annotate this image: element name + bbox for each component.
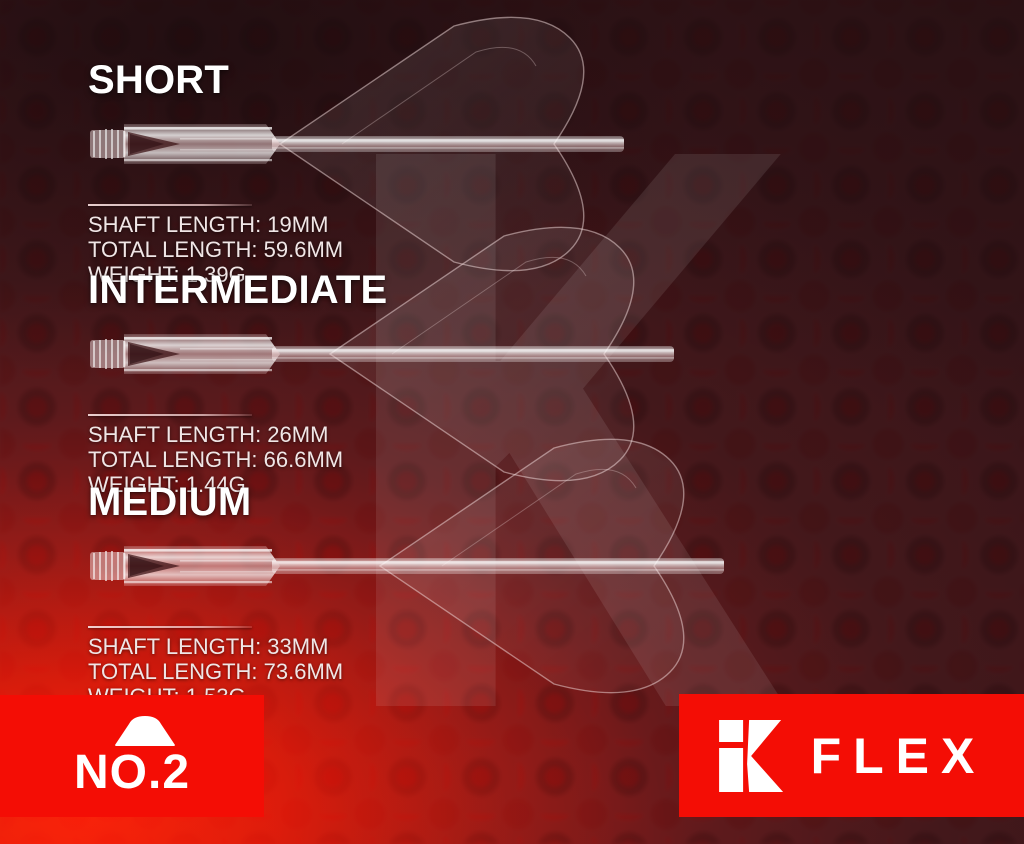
- spec-title-short: SHORT: [88, 60, 343, 100]
- spec-block-short: SHORT SHAFT LENGTH: 19MM TOTAL LENGTH: 5…: [88, 60, 343, 288]
- spec-divider-intermediate: [88, 414, 252, 416]
- kflex-k-mark-icon: [717, 718, 795, 794]
- dart-flight-icon: [113, 715, 177, 747]
- spec-line-shaft-length: SHAFT LENGTH: 19MM: [88, 213, 343, 238]
- spec-line-shaft-length: SHAFT LENGTH: 26MM: [88, 423, 387, 448]
- spec-divider-medium: [88, 626, 252, 628]
- no2-banner: NO.2: [0, 695, 264, 817]
- spec-line-shaft-length: SHAFT LENGTH: 33MM: [88, 635, 343, 660]
- infographic-canvas: SHORT SHAFT LENGTH: 19MM TOTAL LENGTH: 5…: [0, 0, 1024, 844]
- spec-block-medium: MEDIUM SHAFT LENGTH: 33MM TOTAL LENGTH: …: [88, 482, 343, 710]
- kflex-banner: FLEX: [679, 694, 1024, 817]
- spec-line-total-length: TOTAL LENGTH: 59.6MM: [88, 238, 343, 263]
- no2-label: NO.2: [74, 749, 190, 797]
- spec-line-total-length: TOTAL LENGTH: 73.6MM: [88, 660, 343, 685]
- spec-divider-short: [88, 204, 252, 206]
- spec-title-intermediate: INTERMEDIATE: [88, 270, 387, 310]
- spec-line-total-length: TOTAL LENGTH: 66.6MM: [88, 448, 387, 473]
- spec-title-medium: MEDIUM: [88, 482, 343, 522]
- spec-block-intermediate: INTERMEDIATE SHAFT LENGTH: 26MM TOTAL LE…: [88, 270, 387, 498]
- kflex-label: FLEX: [811, 731, 987, 781]
